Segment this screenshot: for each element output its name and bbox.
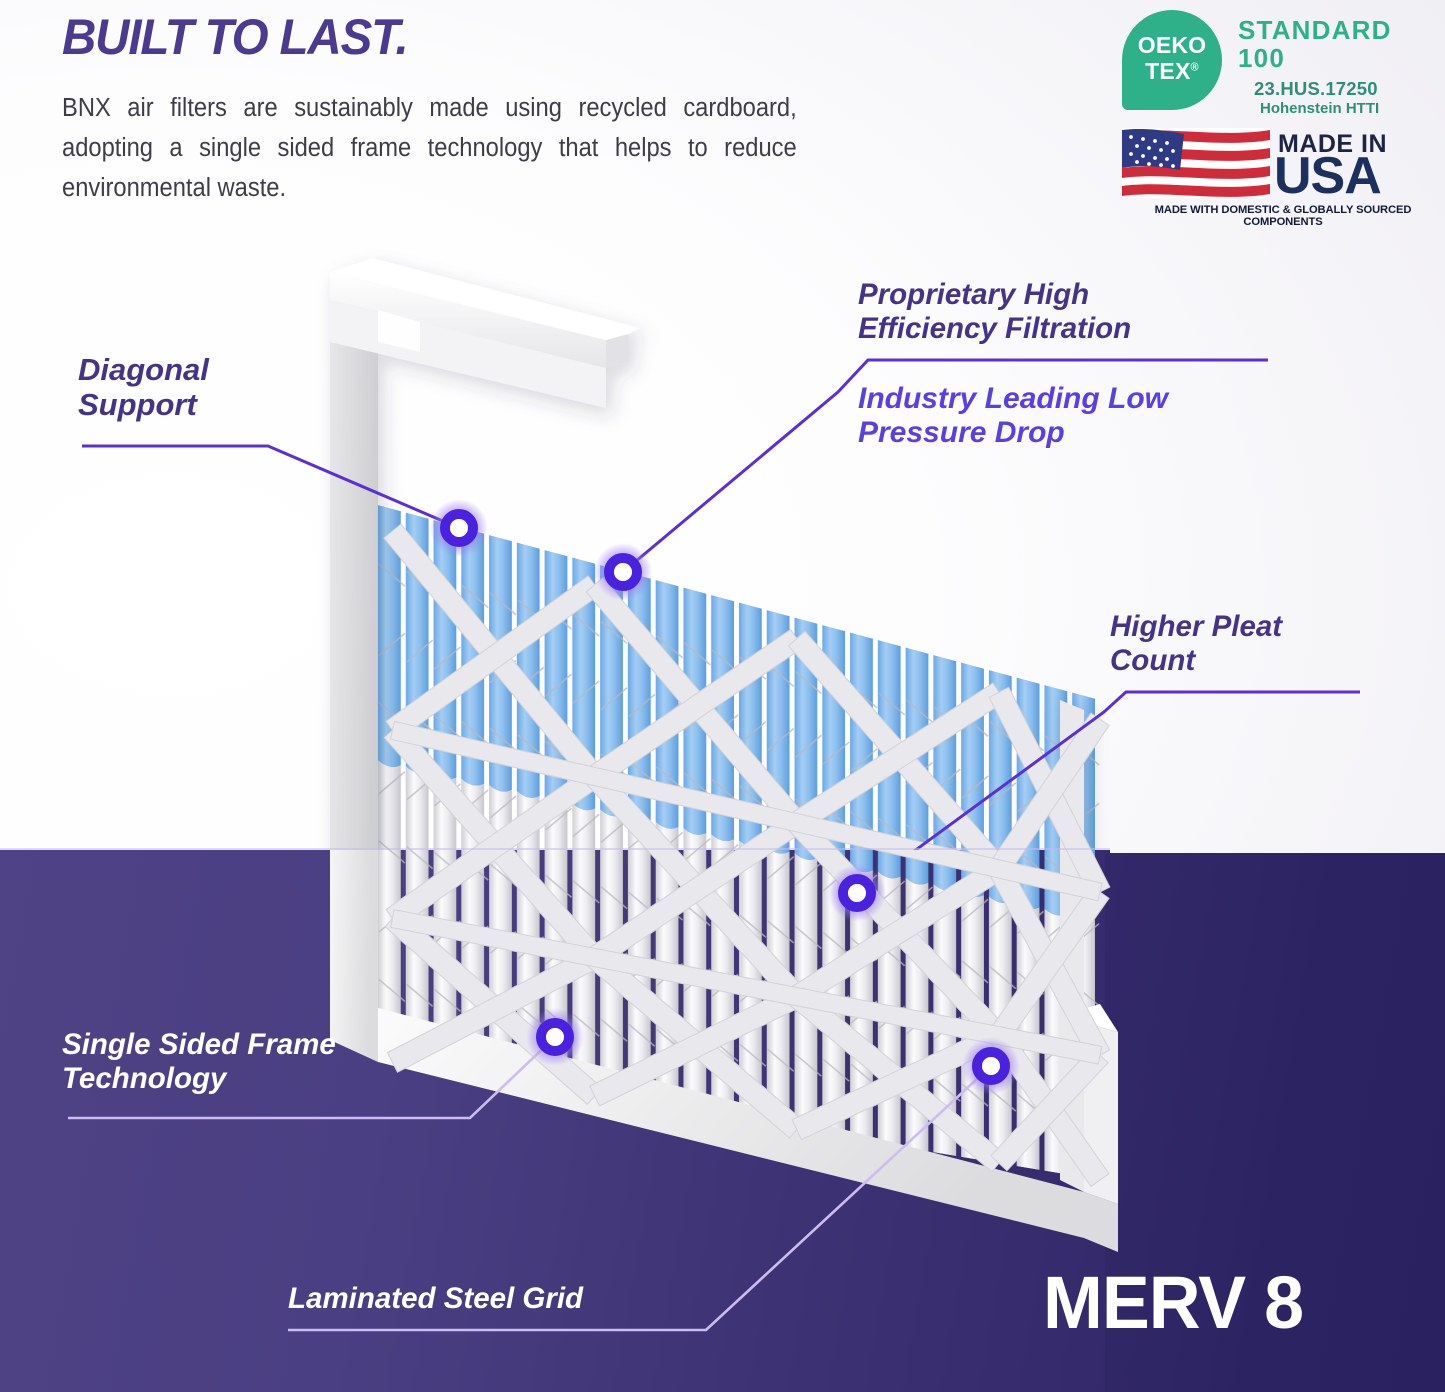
callout-higher-pleat-count: Higher Pleat Count [1110, 610, 1282, 677]
callout-diagonal-support-line2: Support [78, 387, 209, 422]
callout-higher-pleat-count-line2: Count [1110, 644, 1282, 678]
callout-laminated-steel-grid-line1: Laminated Steel Grid [288, 1282, 583, 1316]
callout-low-pressure-drop-line2: Pressure Drop [858, 416, 1168, 450]
diagonal-support-marker [430, 499, 488, 557]
made-in-usa-footnote: MADE WITH DOMESTIC & GLOBALLY SOURCED CO… [1122, 204, 1444, 228]
laminated-steel-grid-marker [962, 1037, 1020, 1095]
callout-single-sided-frame-line2: Technology [62, 1062, 336, 1096]
callout-high-efficiency-line2: Efficiency Filtration [858, 312, 1131, 346]
callout-diagonal-support-line1: Diagonal [78, 352, 209, 387]
callout-single-sided-frame: Single Sided Frame Technology [62, 1028, 336, 1095]
high-efficiency-marker [594, 543, 652, 601]
oeko-tex-line2: TEX® [1122, 58, 1222, 85]
callout-single-sided-frame-line1: Single Sided Frame [62, 1028, 336, 1062]
callout-high-efficiency-line1: Proprietary High [858, 278, 1131, 312]
page-subcopy: BNX air filters are sustainably made usi… [62, 88, 797, 208]
callout-low-pressure-drop: Industry Leading Low Pressure Drop [858, 382, 1168, 450]
higher-pleat-count-marker [828, 864, 886, 922]
callout-diagonal-support: Diagonal Support [78, 352, 209, 423]
made-in-usa-main-text: USA [1274, 150, 1381, 202]
oeko-tex-badge: OEKO TEX® STANDARD 100 23.HUS.17250 Hohe… [1122, 8, 1442, 120]
oeko-tex-institute: Hohenstein HTTI [1260, 100, 1379, 117]
callout-higher-pleat-count-line1: Higher Pleat [1110, 610, 1282, 644]
oeko-tex-standard: STANDARD 100 [1238, 16, 1442, 72]
merv-rating-badge: MERV 8 [1043, 1266, 1303, 1340]
page-headline: BUILT TO LAST. [62, 8, 408, 66]
oeko-tex-line1: OEKO [1122, 32, 1222, 59]
infographic-canvas: BUILT TO LAST. BNX air filters are susta… [0, 0, 1445, 1392]
callout-low-pressure-drop-line1: Industry Leading Low [858, 382, 1168, 416]
single-sided-frame-marker [526, 1008, 584, 1066]
callout-high-efficiency: Proprietary High Efficiency Filtration [858, 278, 1131, 345]
made-in-usa-badge: MADE IN USA MADE WITH DOMESTIC & GLOBALL… [1122, 128, 1444, 220]
oeko-tex-certificate: 23.HUS.17250 [1254, 78, 1378, 100]
oeko-tex-droplet-icon: OEKO TEX® [1122, 10, 1222, 110]
us-flag-icon [1122, 128, 1270, 198]
callout-laminated-steel-grid: Laminated Steel Grid [288, 1282, 583, 1316]
